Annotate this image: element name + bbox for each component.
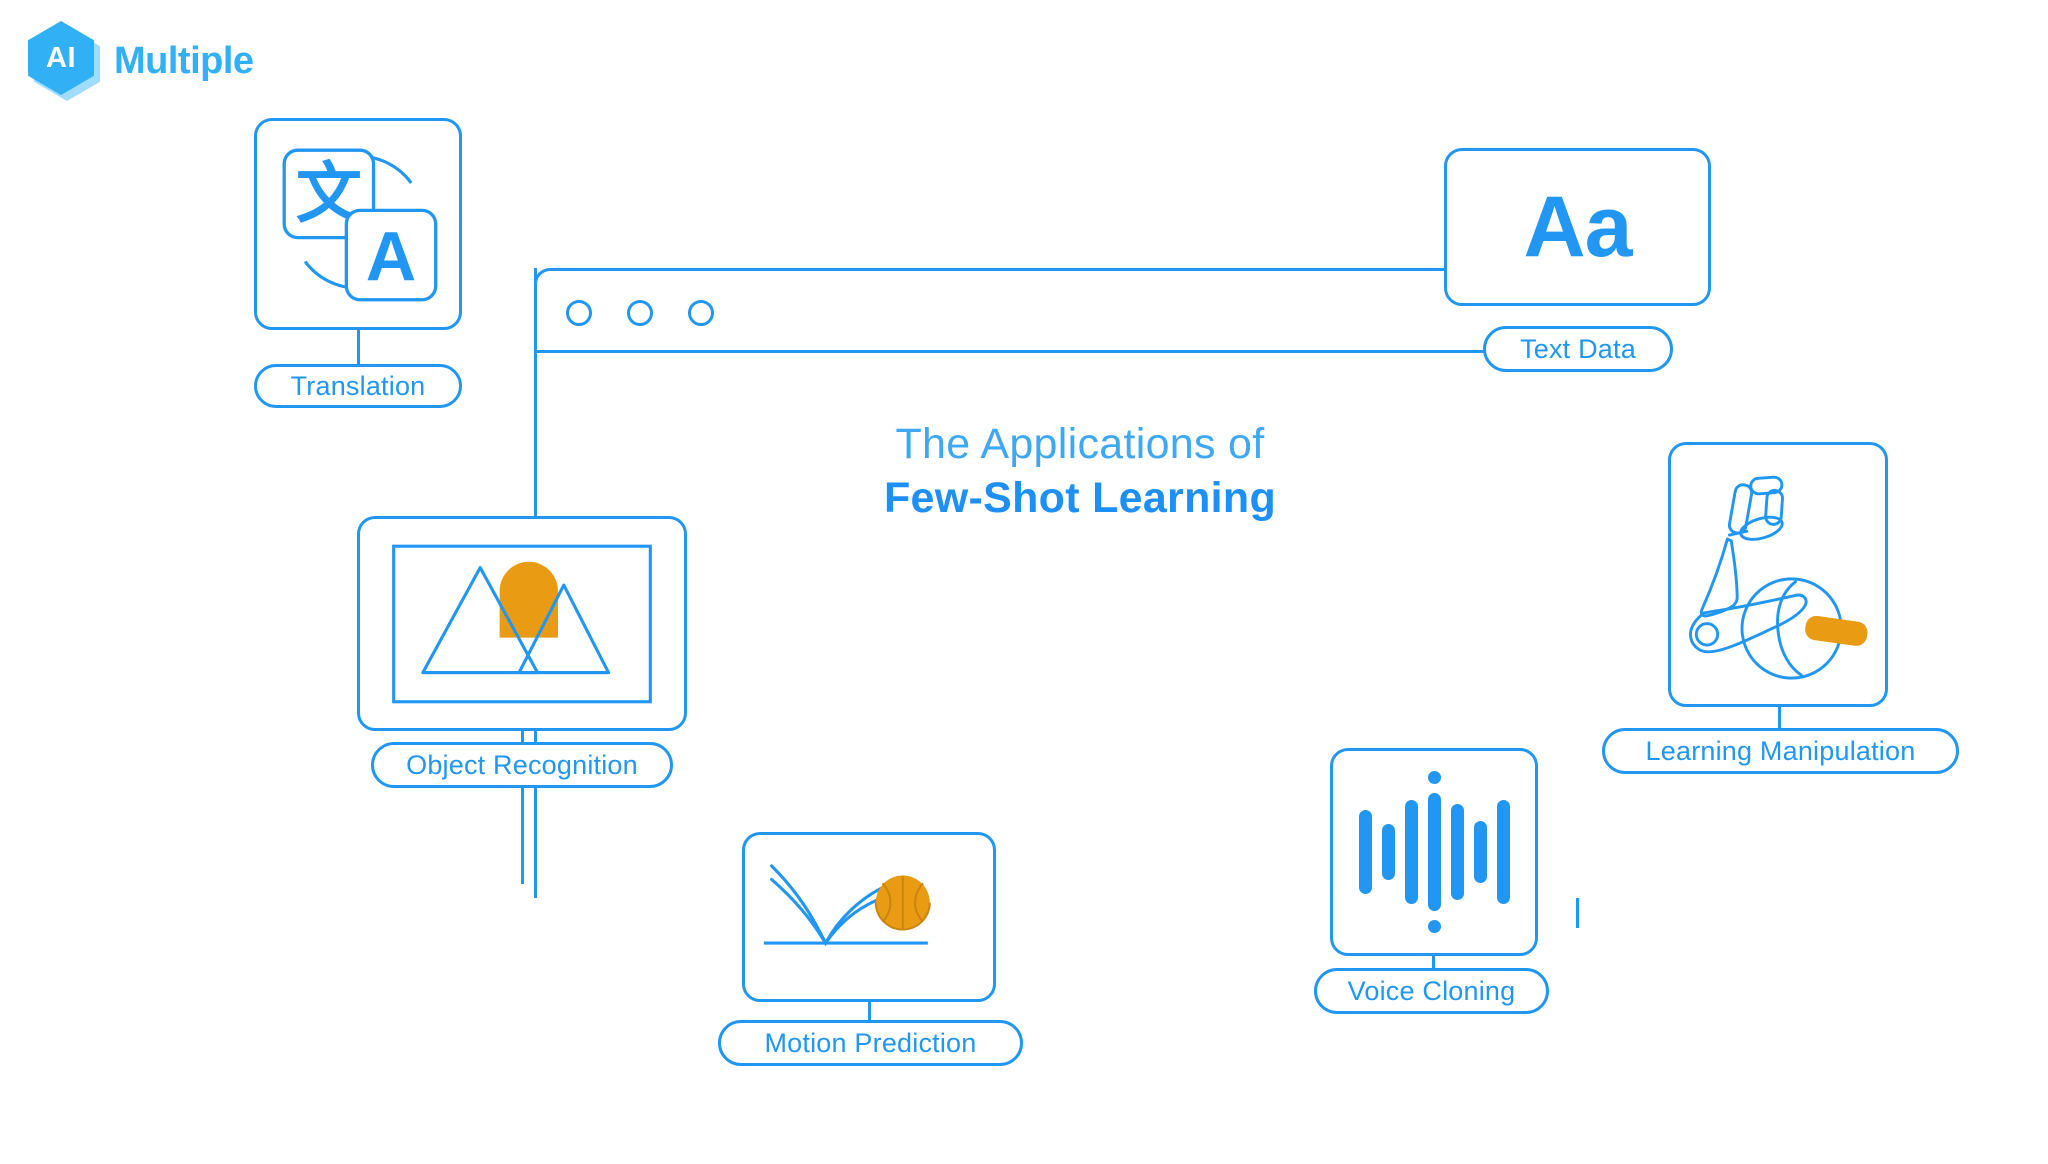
logo-ai-text: AI bbox=[28, 21, 94, 95]
title-line-2: Few-Shot Learning bbox=[630, 472, 1530, 526]
translation-card[interactable]: 文 A bbox=[254, 118, 462, 330]
svg-text:A: A bbox=[366, 217, 416, 295]
pill-object-recognition[interactable]: Object Recognition bbox=[371, 742, 673, 788]
robot-gripper-icon bbox=[1671, 445, 1885, 704]
learning-manipulation-card[interactable] bbox=[1668, 442, 1888, 707]
browser-traffic-light-2[interactable] bbox=[627, 300, 653, 326]
pill-translation[interactable]: Translation bbox=[254, 364, 462, 408]
translate-icon: 文 A bbox=[257, 121, 459, 327]
title-line-1: The Applications of bbox=[630, 418, 1530, 472]
connector-object-pill-down bbox=[521, 784, 524, 884]
browser-traffic-light-1[interactable] bbox=[566, 300, 592, 326]
connector-translation-card-to-pill bbox=[357, 326, 360, 368]
audio-waveform-icon bbox=[1333, 751, 1535, 953]
text-data-card[interactable]: Aa bbox=[1444, 148, 1711, 306]
pill-learning-manipulation[interactable]: Learning Manipulation bbox=[1602, 728, 1959, 774]
browser-titlebar-divider bbox=[534, 350, 1560, 353]
voice-cloning-card[interactable] bbox=[1330, 748, 1538, 956]
pill-text-data[interactable]: Text Data bbox=[1483, 326, 1673, 372]
motion-prediction-card[interactable] bbox=[742, 832, 996, 1002]
pill-voice-cloning[interactable]: Voice Cloning bbox=[1314, 968, 1549, 1014]
text-aa-icon: Aa bbox=[1447, 151, 1708, 303]
mountain-photo-icon bbox=[360, 519, 684, 728]
aimultiple-logo: AI Multiple bbox=[28, 20, 278, 102]
logo-hexagon-icon: AI bbox=[28, 21, 100, 101]
page-title: The Applications of Few-Shot Learning bbox=[630, 418, 1530, 526]
browser-traffic-light-3[interactable] bbox=[688, 300, 714, 326]
bouncing-ball-icon bbox=[745, 835, 993, 999]
logo-wordmark: Multiple bbox=[114, 42, 254, 80]
infographic-canvas: AI Multiple The Applications of Few-Shot… bbox=[0, 0, 2048, 1164]
object-recognition-card[interactable] bbox=[357, 516, 687, 731]
pill-motion-prediction[interactable]: Motion Prediction bbox=[718, 1020, 1023, 1066]
